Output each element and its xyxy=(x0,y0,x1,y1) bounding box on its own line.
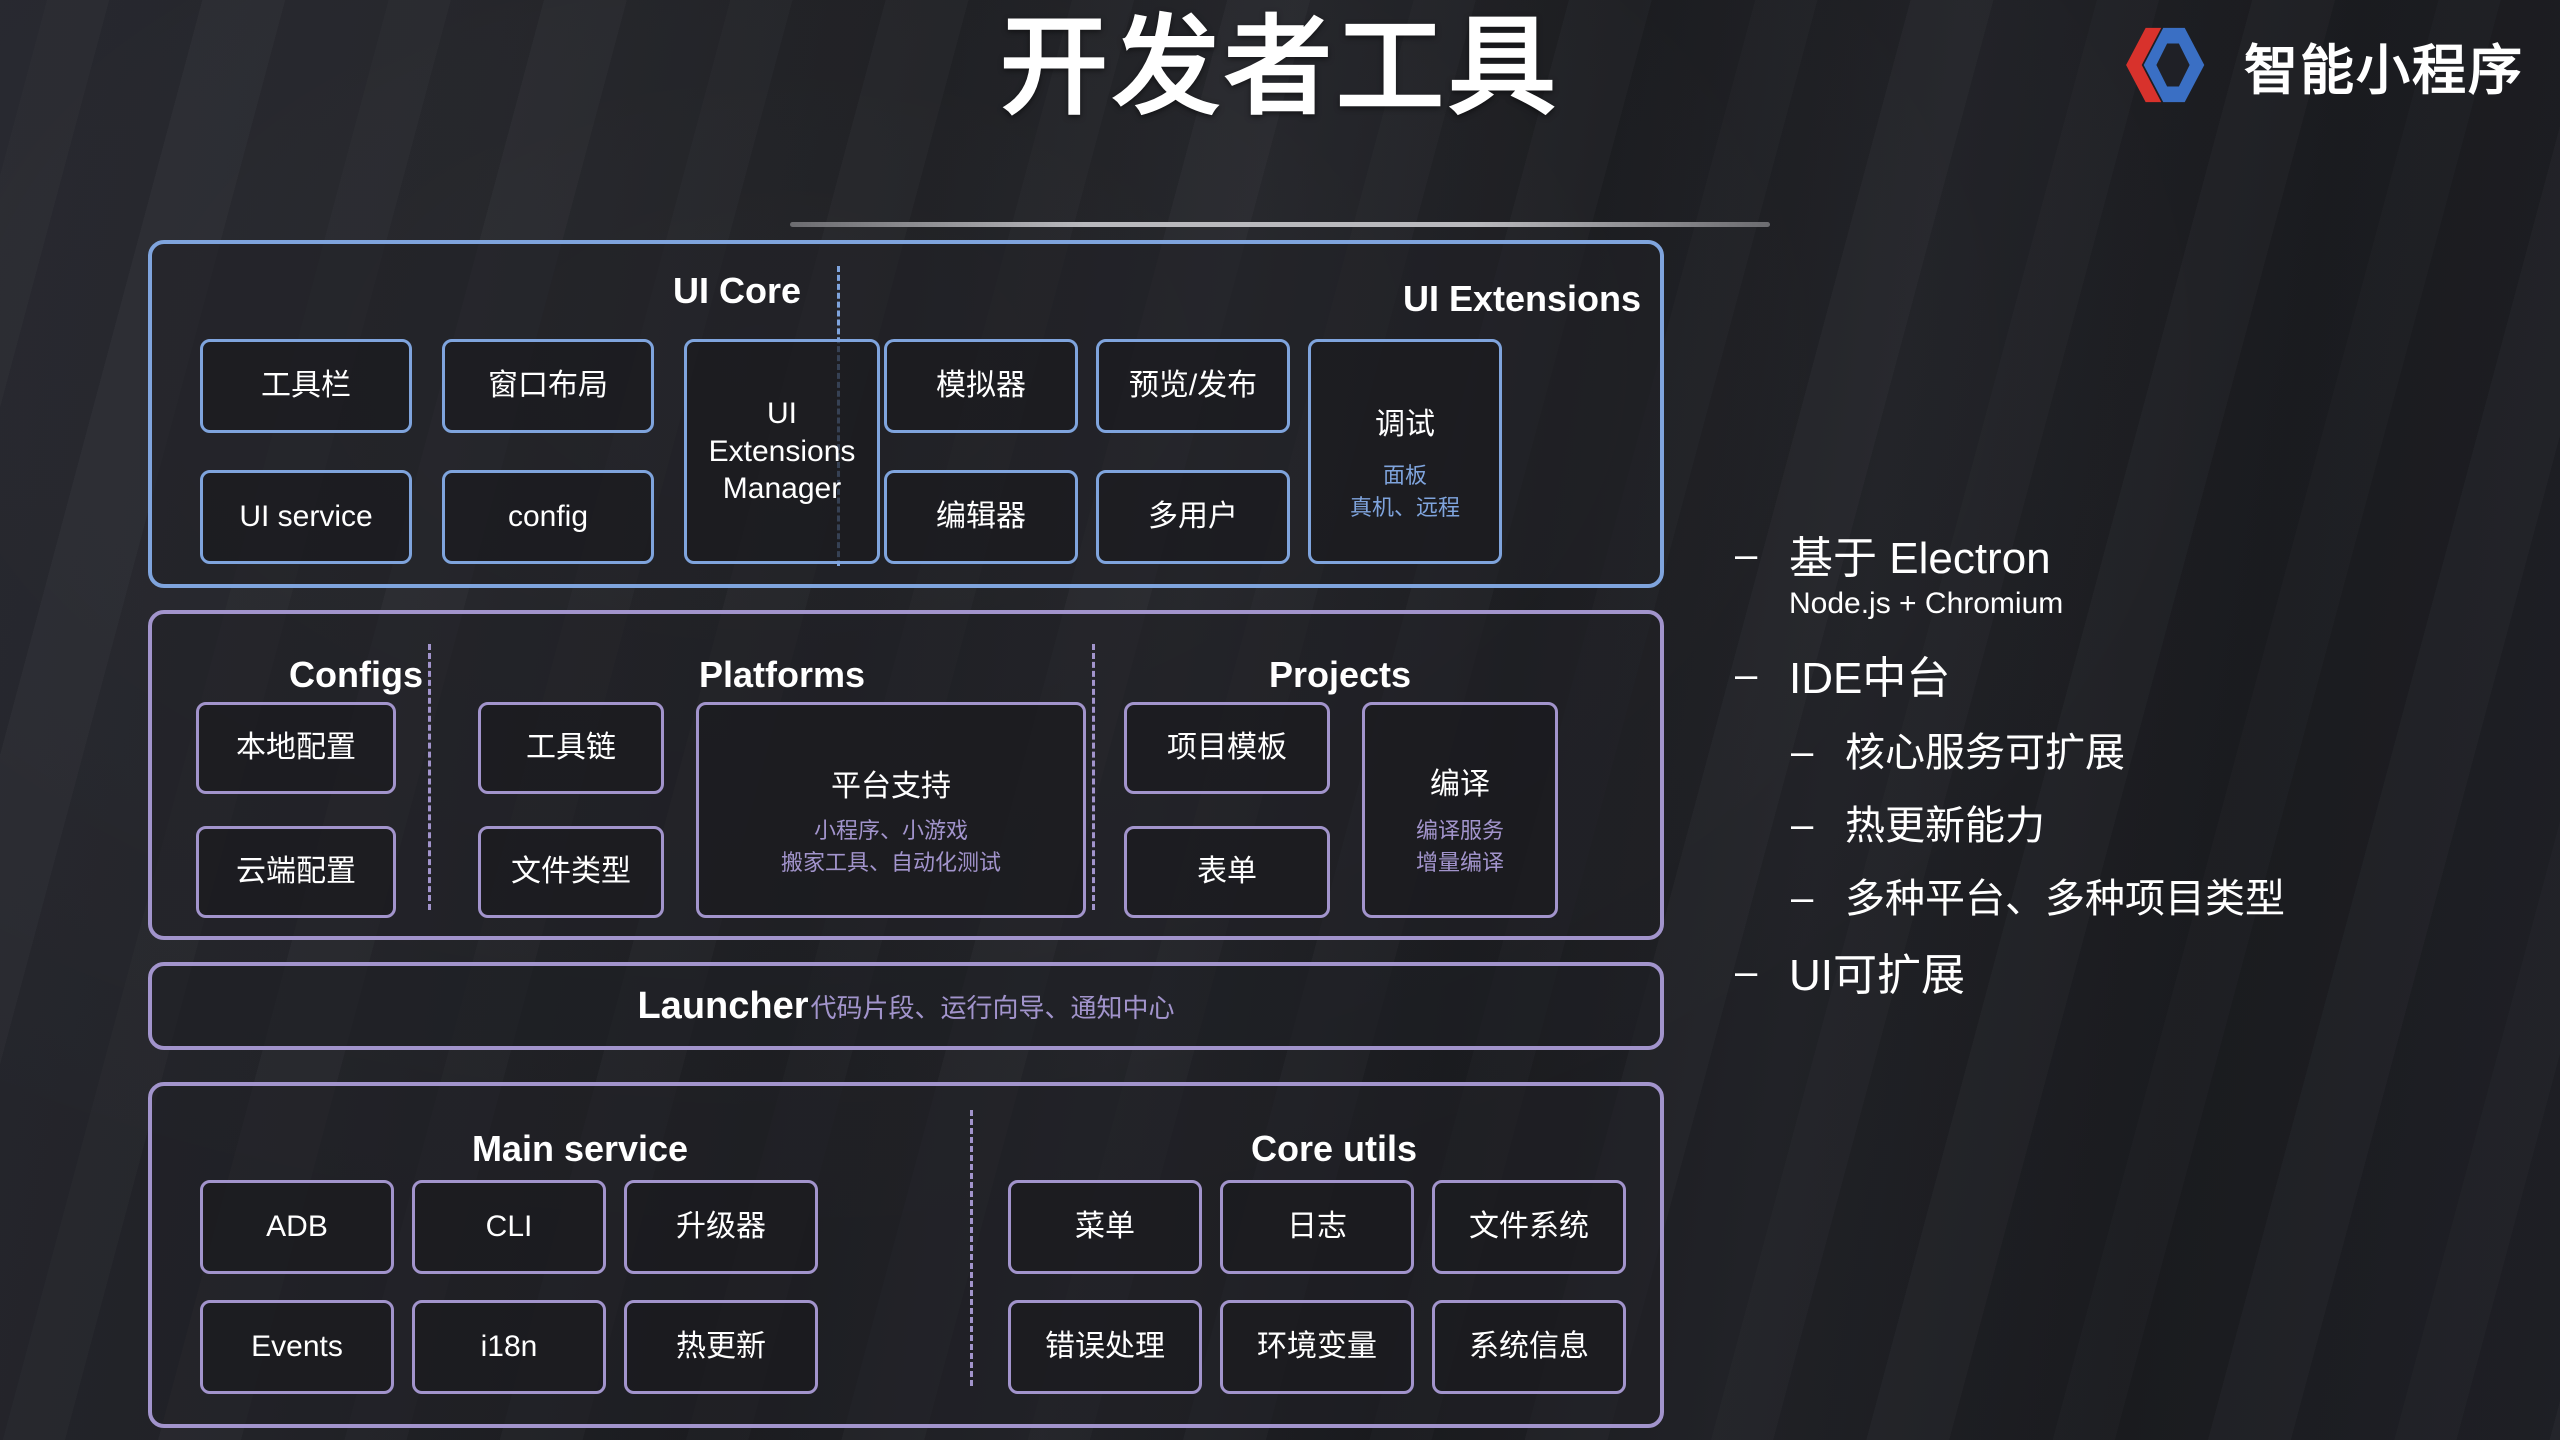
cell-menu[interactable]: 菜单 xyxy=(1008,1180,1202,1274)
bullet-dash: – xyxy=(1791,805,1845,845)
cell-label: 编辑器 xyxy=(936,498,1026,536)
brand-name: 智能小程序 xyxy=(2244,26,2524,105)
cell-label: 日志 xyxy=(1287,1208,1347,1246)
cell-window-layout[interactable]: 窗口布局 xyxy=(442,339,654,433)
cell-i18n[interactable]: i18n xyxy=(412,1300,606,1394)
cell-sublabel: 小程序、小游戏搬家工具、自动化测试 xyxy=(699,815,1083,879)
cell-upgrader[interactable]: 升级器 xyxy=(624,1180,818,1274)
cell-label: 表单 xyxy=(1197,853,1257,891)
cell-label: 热更新 xyxy=(676,1328,766,1366)
cell-label: 文件系统 xyxy=(1469,1208,1589,1246)
bullet-text: 基于 Electron xyxy=(1789,535,2051,583)
cell-ui-service[interactable]: UI service xyxy=(200,470,412,564)
cell-label: 错误处理 xyxy=(1045,1328,1165,1366)
bullet-item-ui-extensible: – UI可扩展 xyxy=(1735,952,2535,1000)
launcher-subtitle: 代码片段、运行向导、通知中心 xyxy=(811,988,1175,1025)
bullet-item-electron: – 基于 Electron xyxy=(1735,535,2535,583)
bullet-text: 核心服务可扩展 xyxy=(1845,732,2125,775)
cell-label: 调试 xyxy=(1375,406,1435,444)
cell-file-system[interactable]: 文件系统 xyxy=(1432,1180,1626,1274)
bullet-text: 多种平台、多种项目类型 xyxy=(1845,878,2285,921)
panel-platform-layer: Configs Platforms Projects 本地配置 云端配置 工具链… xyxy=(148,610,1664,940)
cell-label: Events xyxy=(251,1328,343,1366)
cell-label: 项目模板 xyxy=(1167,729,1287,767)
cell-label: 编译 xyxy=(1430,766,1490,804)
cell-label: 工具栏 xyxy=(261,367,351,405)
cell-debug[interactable]: 调试 面板真机、远程 xyxy=(1308,339,1502,564)
bullet-text: IDE中台 xyxy=(1789,655,1950,703)
cell-sublabel: 编译服务增量编译 xyxy=(1365,815,1555,879)
cell-multiuser[interactable]: 多用户 xyxy=(1096,470,1290,564)
bullet-text: UI可扩展 xyxy=(1789,952,1965,1000)
cell-toolbar[interactable]: 工具栏 xyxy=(200,339,412,433)
divider-platforms-projects xyxy=(1092,644,1095,910)
cell-error-handling[interactable]: 错误处理 xyxy=(1008,1300,1202,1394)
cell-form[interactable]: 表单 xyxy=(1124,826,1330,918)
brand-logo: 智能小程序 xyxy=(2124,22,2524,108)
cell-cloud-config[interactable]: 云端配置 xyxy=(196,826,396,918)
bullet-dash: – xyxy=(1735,952,1789,992)
cell-label: 菜单 xyxy=(1075,1208,1135,1246)
cell-label: 文件类型 xyxy=(511,853,631,891)
panel-service-layer: Main service Core utils ADB CLI 升级器 Even… xyxy=(148,1082,1664,1428)
title-underline-rule xyxy=(790,222,1770,227)
cell-cli[interactable]: CLI xyxy=(412,1180,606,1274)
section-title-core-utils: Core utils xyxy=(1251,1128,1417,1170)
cell-label: 本地配置 xyxy=(236,729,356,767)
cell-ui-extensions-manager[interactable]: UI Extensions Manager xyxy=(684,339,880,564)
cell-log[interactable]: 日志 xyxy=(1220,1180,1414,1274)
cell-label: 预览/发布 xyxy=(1129,367,1257,405)
section-title-main-service: Main service xyxy=(472,1128,688,1170)
cell-preview-publish[interactable]: 预览/发布 xyxy=(1096,339,1290,433)
panel-launcher[interactable]: Launcher 代码片段、运行向导、通知中心 xyxy=(148,962,1664,1050)
bullet-text: 热更新能力 xyxy=(1845,805,2045,848)
cell-editor[interactable]: 编辑器 xyxy=(884,470,1078,564)
section-title-ui-core: UI Core xyxy=(673,270,801,312)
launcher-title: Launcher xyxy=(637,985,808,1028)
cell-label: 多用户 xyxy=(1148,498,1238,536)
cell-compile[interactable]: 编译 编译服务增量编译 xyxy=(1362,702,1558,918)
section-title-configs: Configs xyxy=(289,654,423,696)
cell-events[interactable]: Events xyxy=(200,1300,394,1394)
bullet-dash: – xyxy=(1735,655,1789,695)
bullet-item-core-service-extensible: – 核心服务可扩展 xyxy=(1791,732,2535,775)
cell-adb[interactable]: ADB xyxy=(200,1180,394,1274)
bullet-item-ide-platform: – IDE中台 xyxy=(1735,655,2535,703)
divider-configs-platforms xyxy=(428,644,431,910)
cell-label: i18n xyxy=(481,1328,538,1366)
cell-system-info[interactable]: 系统信息 xyxy=(1432,1300,1626,1394)
section-title-platforms: Platforms xyxy=(699,654,865,696)
cell-label: 平台支持 xyxy=(831,768,951,806)
cell-label: 工具链 xyxy=(526,729,616,767)
cell-label: 升级器 xyxy=(676,1208,766,1246)
feature-bullet-list: – 基于 Electron Node.js + Chromium – IDE中台… xyxy=(1735,535,2535,999)
cell-config[interactable]: config xyxy=(442,470,654,564)
cell-env-vars[interactable]: 环境变量 xyxy=(1220,1300,1414,1394)
cell-label: CLI xyxy=(486,1208,533,1246)
divider-mainservice-coreutils xyxy=(970,1110,973,1386)
cell-label: 云端配置 xyxy=(236,853,356,891)
panel-ui-layer: UI Core UI Extensions 工具栏 窗口布局 UI Extens… xyxy=(148,240,1664,588)
cell-label: 环境变量 xyxy=(1257,1328,1377,1366)
cell-label: 系统信息 xyxy=(1469,1328,1589,1366)
bullet-dash: – xyxy=(1791,878,1845,918)
cell-simulator[interactable]: 模拟器 xyxy=(884,339,1078,433)
cell-sublabel: 面板真机、远程 xyxy=(1311,460,1499,524)
cell-label: 窗口布局 xyxy=(488,367,608,405)
bullet-dash: – xyxy=(1735,535,1789,575)
cell-local-config[interactable]: 本地配置 xyxy=(196,702,396,794)
cell-file-types[interactable]: 文件类型 xyxy=(478,826,664,918)
bullet-dash: – xyxy=(1791,732,1845,772)
section-title-projects: Projects xyxy=(1269,654,1411,696)
cell-label: UI Extensions Manager xyxy=(697,395,867,508)
bullet-item-multi-platform-project-types: – 多种平台、多种项目类型 xyxy=(1791,878,2535,921)
cell-label: UI service xyxy=(239,498,372,536)
cell-platform-support[interactable]: 平台支持 小程序、小游戏搬家工具、自动化测试 xyxy=(696,702,1086,918)
bullet-item-hot-update-capability: – 热更新能力 xyxy=(1791,805,2535,848)
bullet-note-electron-stack: Node.js + Chromium xyxy=(1789,587,2535,621)
cell-project-template[interactable]: 项目模板 xyxy=(1124,702,1330,794)
section-title-ui-extensions: UI Extensions xyxy=(1403,278,1641,320)
cell-toolchain[interactable]: 工具链 xyxy=(478,702,664,794)
cell-hot-update[interactable]: 热更新 xyxy=(624,1300,818,1394)
cell-label: 模拟器 xyxy=(936,367,1026,405)
cell-label: config xyxy=(508,498,588,536)
smart-miniprogram-logo-icon xyxy=(2124,22,2222,108)
cell-label: ADB xyxy=(266,1208,328,1246)
